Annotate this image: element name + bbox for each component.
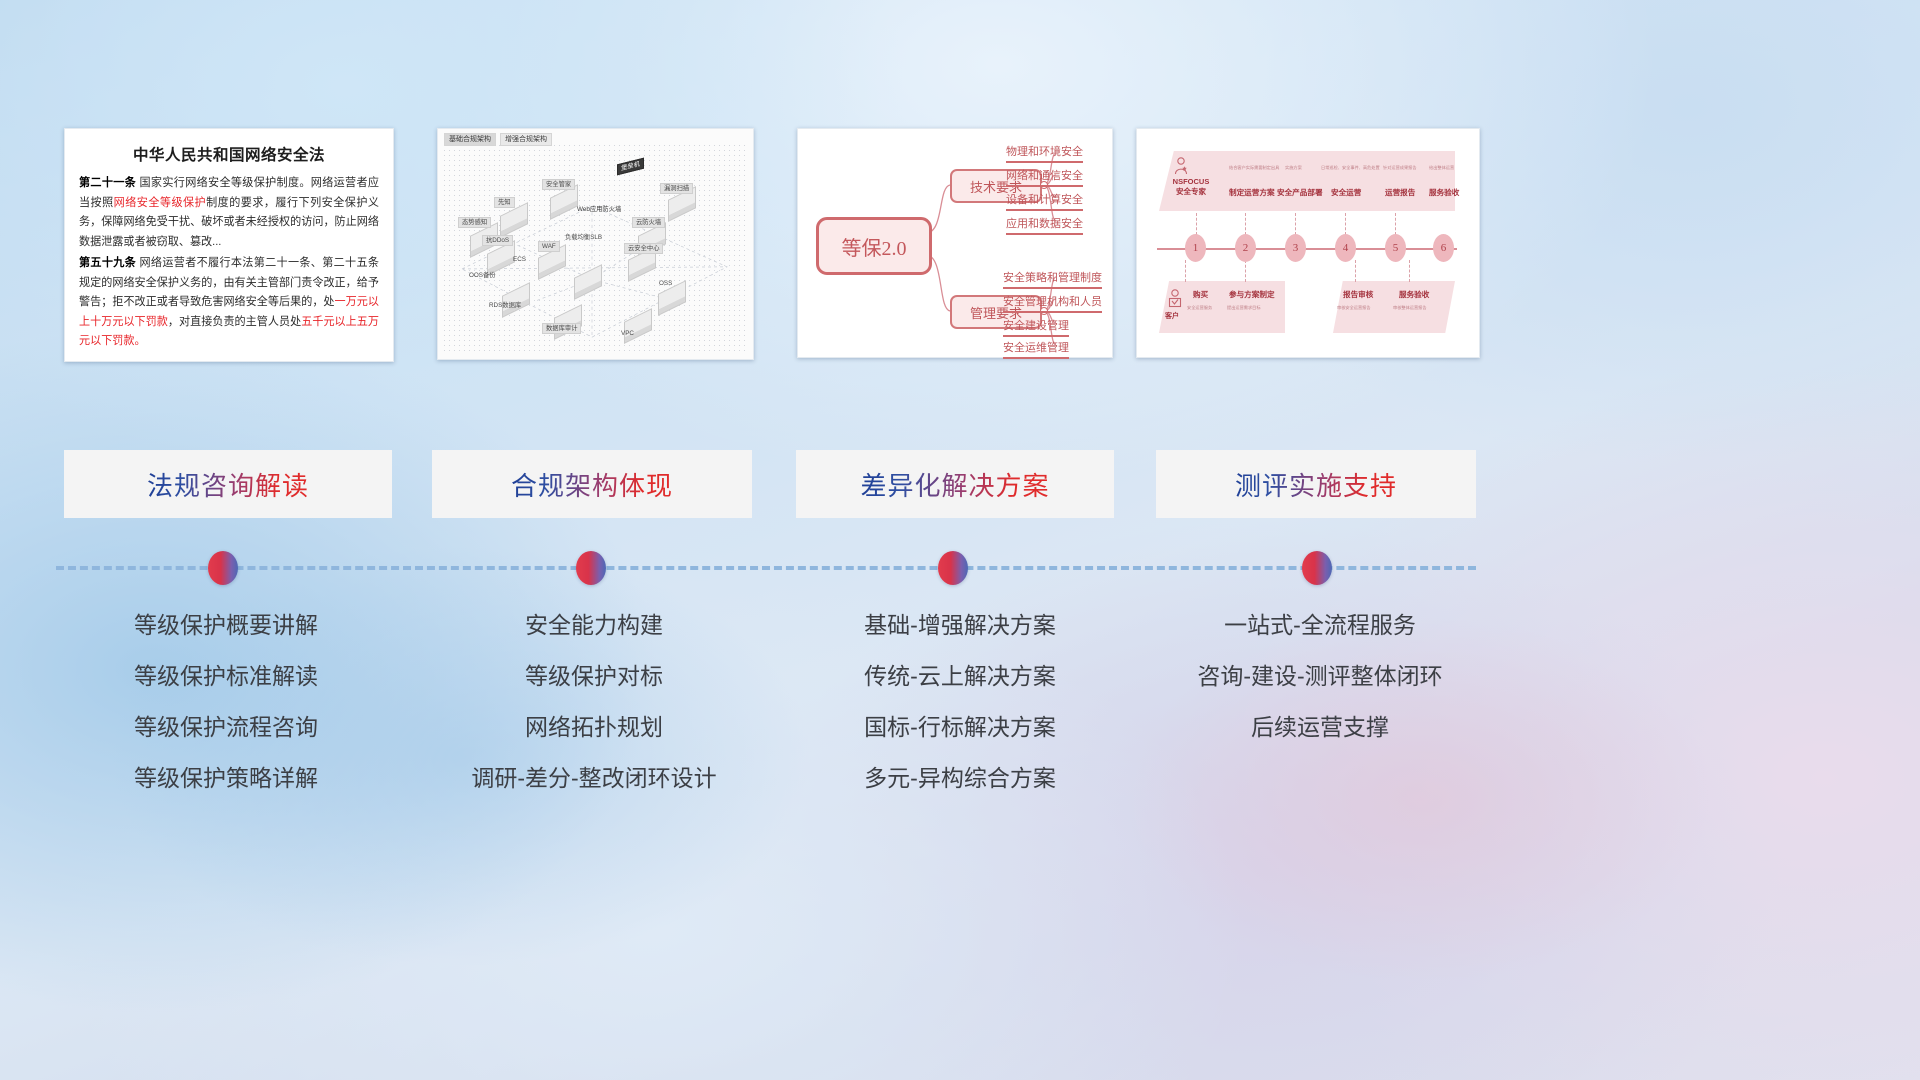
list-item: 等级保护对标 [424, 651, 764, 702]
nsfocus-top-sub-4: 针对运营成果报告 [1383, 165, 1417, 171]
nsfocus-tick-7 [1245, 260, 1246, 282]
nsfocus-brand-name: NSFOCUS [1167, 177, 1215, 187]
nsfocus-bl-sub-1: 安全运营服务 [1187, 305, 1212, 311]
nsfocus-br-label-1: 报告审核 [1343, 289, 1373, 300]
list-item: 等级保护流程咨询 [56, 702, 396, 753]
node-rds: RDS数据库 [486, 301, 524, 310]
nsfocus-top-label-5: 服务验收 [1429, 187, 1459, 198]
mindmap-leaf-m1: 安全策略和管理制度 [1003, 269, 1102, 289]
nsfocus-top-label-1: 制定运营方案 [1229, 187, 1275, 198]
nsfocus-customer-label: 客户 [1165, 311, 1179, 321]
law-article-59-label: 第五十九条 [79, 257, 136, 269]
section-title-row: 法规咨询解读 合规架构体现 差异化解决方案 测评实施支持 [0, 450, 1920, 520]
nsfocus-br-sub-1: 审核安全运营报告 [1337, 305, 1371, 311]
card-cybersecurity-law[interactable]: 中华人民共和国网络安全法 第二十一条 国家实行网络安全等级保护制度。网络运营者应… [64, 128, 394, 362]
mindmap-leaf-m4: 安全运维管理 [1003, 339, 1069, 359]
timeline-dashed-line [56, 566, 1476, 570]
nsfocus-step-number-4: 4 [1335, 234, 1356, 262]
nsfocus-step-number-5: 5 [1385, 234, 1406, 262]
section-title-box-1[interactable]: 法规咨询解读 [64, 450, 392, 518]
section-items-col-2: 安全能力构建 等级保护对标 网络拓扑规划 调研-差分-整改闭环设计 [424, 600, 764, 804]
node-ecs: ECS [510, 255, 529, 264]
section-title-label-2: 合规架构体现 [511, 466, 673, 503]
node-waf-label: WAF [538, 241, 560, 252]
nsfocus-bl-label-1: 购买 [1193, 289, 1208, 300]
nsfocus-top-sub-2: 实施方案 [1285, 165, 1302, 171]
law-article-21-highlight: 网络安全等级保护 [114, 197, 206, 209]
card-compliance-architecture[interactable]: 基础合规架构 增强合规架构 堡垒机 安全管家 先知 态 [437, 128, 754, 360]
law-article-59: 第五十九条 网络运营者不履行本法第二十一条、第二十五条规定的网络安全保护义务的，… [79, 254, 379, 352]
list-item: 多元-异构综合方案 [790, 753, 1130, 804]
nsfocus-tick-6 [1185, 260, 1186, 282]
tab-basic-architecture[interactable]: 基础合规架构 [444, 133, 496, 146]
nsfocus-bl-label-2: 参与方案制定 [1229, 289, 1275, 300]
node-vuln-scan: 漏洞扫描 [660, 183, 693, 194]
timeline-dot-2[interactable] [576, 551, 606, 585]
section-title-box-4[interactable]: 测评实施支持 [1156, 450, 1476, 518]
tab-enhanced-architecture[interactable]: 增强合规架构 [500, 133, 552, 146]
nsfocus-top-label-4: 运营报告 [1385, 187, 1415, 198]
law-article-59-mid: ，对直接负责的主管人员处 [168, 316, 301, 328]
nsfocus-tick-2 [1245, 213, 1246, 235]
timeline [56, 566, 1476, 570]
node-slb: 负载均衡SLB [562, 233, 605, 242]
nsfocus-tick-4 [1345, 213, 1346, 235]
nsfocus-tick-9 [1409, 260, 1410, 282]
list-item: 等级保护策略详解 [56, 753, 396, 804]
nsfocus-br-label-2: 服务验收 [1399, 289, 1429, 300]
nsfocus-top-sub-3: 日常巡检、安全事件、高危处置 [1321, 165, 1380, 171]
thumbnail-row: 中华人民共和国网络安全法 第二十一条 国家实行网络安全等级保护制度。网络运营者应… [0, 128, 1920, 362]
law-article-21: 第二十一条 国家实行网络安全等级保护制度。网络运营者应当按照网络安全等级保护制度… [79, 174, 379, 252]
node-web-firewall: Web应用防火墙 [574, 205, 624, 214]
nsfocus-brand-sub: 安全专家 [1167, 187, 1215, 197]
nsfocus-brand: NSFOCUS 安全专家 [1167, 177, 1215, 197]
expert-person-icon [1173, 157, 1189, 175]
nsfocus-step-number-3: 3 [1285, 234, 1306, 262]
mindmap-leaf-t1: 物理和环境安全 [1006, 143, 1083, 163]
law-title: 中华人民共和国网络安全法 [79, 143, 379, 165]
mindmap-root: 等保2.0 [816, 217, 932, 275]
nsfocus-tick-8 [1355, 260, 1356, 282]
list-item: 等级保护概要讲解 [56, 600, 396, 651]
node-cloud-security-center: 云安全中心 [624, 243, 663, 254]
section-items-col-1: 等级保护概要讲解 等级保护标准解读 等级保护流程咨询 等级保护策略详解 [56, 600, 396, 804]
nsfocus-bl-sub-2: 提出运营需求目标 [1227, 305, 1261, 311]
list-item: 咨询-建设-测评整体闭环 [1150, 651, 1490, 702]
section-title-box-2[interactable]: 合规架构体现 [432, 450, 752, 518]
nsfocus-tick-3 [1295, 213, 1296, 235]
node-db-audit: 数据库审计 [542, 323, 581, 334]
nsfocus-top-label-3: 安全运营 [1331, 187, 1361, 198]
list-item: 基础-增强解决方案 [790, 600, 1130, 651]
nsfocus-top-sub-5: 给出整体运营 [1429, 165, 1454, 171]
architecture-tabs: 基础合规架构 增强合规架构 [444, 133, 552, 146]
timeline-dot-1[interactable] [208, 551, 238, 585]
node-oos-backup: OOS备份 [466, 271, 499, 280]
list-item: 一站式-全流程服务 [1150, 600, 1490, 651]
list-item: 后续运营支撑 [1150, 702, 1490, 753]
nsfocus-step-number-6: 6 [1433, 234, 1454, 262]
node-vpc: VPC [618, 329, 637, 338]
nsfocus-tick-5 [1395, 213, 1396, 235]
nsfocus-top-label-2: 安全产品部署 [1277, 187, 1323, 198]
section-items-col-3: 基础-增强解决方案 传统-云上解决方案 国标-行标解决方案 多元-异构综合方案 [790, 600, 1130, 804]
list-item: 国标-行标解决方案 [790, 702, 1130, 753]
list-item: 安全能力构建 [424, 600, 764, 651]
section-title-box-3[interactable]: 差异化解决方案 [796, 450, 1114, 518]
node-xianzhi: 先知 [494, 197, 515, 208]
section-title-label-3: 差异化解决方案 [860, 466, 1049, 503]
architecture-canvas: 堡垒机 安全管家 先知 态势感知 抗DDoS WAF Web应用防火墙 负载均衡… [442, 143, 749, 355]
nsfocus-step-number-1: 1 [1185, 234, 1206, 262]
card-nsfocus-service-timeline[interactable]: NSFOCUS 安全专家 结合客户实际需要制定出具 制定运营方案 实施方案 安全… [1136, 128, 1480, 358]
nsfocus-tick-1 [1196, 213, 1197, 235]
list-item: 网络拓扑规划 [424, 702, 764, 753]
list-item: 调研-差分-整改闭环设计 [424, 753, 764, 804]
timeline-dot-4[interactable] [1302, 551, 1332, 585]
mindmap-leaf-m3: 安全建设管理 [1003, 317, 1069, 337]
law-article-21-label: 第二十一条 [79, 177, 136, 189]
node-anti-ddos: 抗DDoS [482, 235, 513, 246]
section-title-label-4: 测评实施支持 [1235, 466, 1397, 503]
card-dengbao-mindmap[interactable]: 等保2.0 技术要求 物理和环境安全 网络和通信安全 设备和计算安全 应用和数据… [797, 128, 1113, 358]
timeline-dot-3[interactable] [938, 551, 968, 585]
nsfocus-top-sub-1: 结合客户实际需要制定出具 [1229, 165, 1279, 171]
mindmap-leaf-m2: 安全管理机构和人员 [1003, 293, 1102, 313]
node-situational-awareness: 态势感知 [458, 217, 491, 228]
node-cloud-firewall: 云防火墙 [632, 217, 665, 228]
mindmap-leaf-t4: 应用和数据安全 [1006, 215, 1083, 235]
list-item: 传统-云上解决方案 [790, 651, 1130, 702]
mindmap-leaf-t3: 设备和计算安全 [1006, 191, 1083, 211]
list-item: 等级保护标准解读 [56, 651, 396, 702]
customer-person-icon [1167, 289, 1183, 309]
mindmap-leaf-t2: 网络和通信安全 [1006, 167, 1083, 187]
nsfocus-step-number-2: 2 [1235, 234, 1256, 262]
section-items-col-4: 一站式-全流程服务 咨询-建设-测评整体闭环 后续运营支撑 [1150, 600, 1490, 753]
node-security-butler: 安全管家 [542, 179, 575, 190]
section-title-label-1: 法规咨询解读 [147, 466, 309, 503]
node-oss: OSS [656, 279, 675, 288]
nsfocus-br-sub-2: 审核整体运营报告 [1393, 305, 1427, 311]
